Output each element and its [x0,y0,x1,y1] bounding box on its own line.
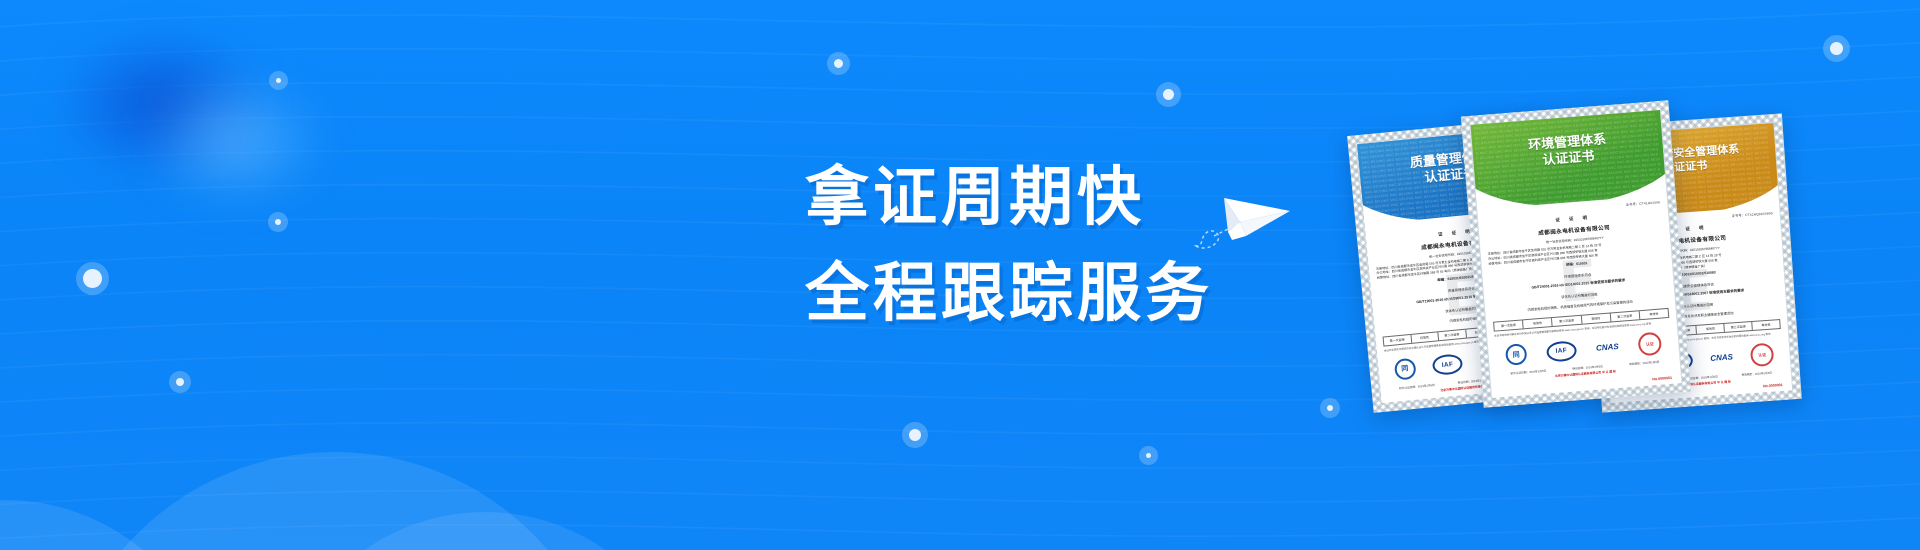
certificate-audit-cell: 第二次监审 [1552,316,1582,326]
certificate-audit-cell: 第二次监审 [1438,330,1466,341]
certificate-audit-cell: 有效性 [1640,309,1669,319]
certificate-serial: No.0000001 [1652,376,1672,382]
decorative-dot [1163,89,1174,100]
certificate-audit-cell: 第一次监审 [1494,321,1524,331]
certificate-audit-cell: 有效性 [1523,318,1553,328]
certificate-environment[interactable]: MKC BEIJING MKC BEIJING MKC BEIJING MKC … [1461,100,1691,407]
certificate-audit-cell: 有效性 [1752,320,1779,330]
red-seal-icon: 认证 [1637,332,1662,357]
decorative-dot [83,269,102,288]
decorative-dot [275,219,281,225]
decorative-dot [276,78,281,83]
certificate-inner: MKC BEIJING MKC BEIJING MKC BEIJING MKC … [1471,110,1682,398]
hero-banner: 拿证周期快 全程跟踪服务 MKC BEIJING MKC BEIJING MKC… [0,0,1920,550]
certificate-date: 有效期至：2022年1月5日 [1741,371,1772,377]
cnas-logo: CNAS [1710,353,1733,364]
certificate-audit-cell: 第三次监审 [1610,311,1640,321]
headline-line-2: 全程跟踪服务 [805,246,1365,342]
certificate-audit-cell: 有效性 [1581,314,1611,324]
certificate-audit-cell: 第一次监审 [1384,335,1412,346]
red-seal-icon: 认证 [1750,343,1775,368]
china-certification-logo: 同 [1393,357,1416,380]
certificate-serial: No.0000001 [1763,383,1783,388]
iaf-logo: IAF [1432,353,1464,376]
certificate-header: MKC BEIJING MKC BEIJING MKC BEIJING MKC … [1471,110,1667,210]
iaf-logo: IAF [1546,340,1577,362]
china-certification-logo: 同 [1505,343,1528,366]
decorative-dot [834,59,843,68]
decorative-dot [1830,42,1843,55]
decorative-dot [1146,453,1151,458]
paper-plane-icon [1188,178,1298,258]
certificate-audit-cell: 有效性 [1697,324,1725,334]
decorative-dot [176,378,184,386]
decorative-dot [1327,405,1333,411]
decorative-dot [909,429,921,441]
certificate-audit-cell: 有效性 [1411,332,1439,343]
cnas-logo: CNAS [1596,342,1619,353]
certificate-audit-cell: 第三次监审 [1725,322,1753,332]
background-glow-light [140,70,330,210]
certificate-group: MKC BEIJING MKC BEIJING MKC BEIJING MKC … [1360,78,1920,408]
certificate-body: E 证书号：CT41H02006 证 证 明 成都闽永电机设备有限公司 统一社会… [1477,195,1680,383]
